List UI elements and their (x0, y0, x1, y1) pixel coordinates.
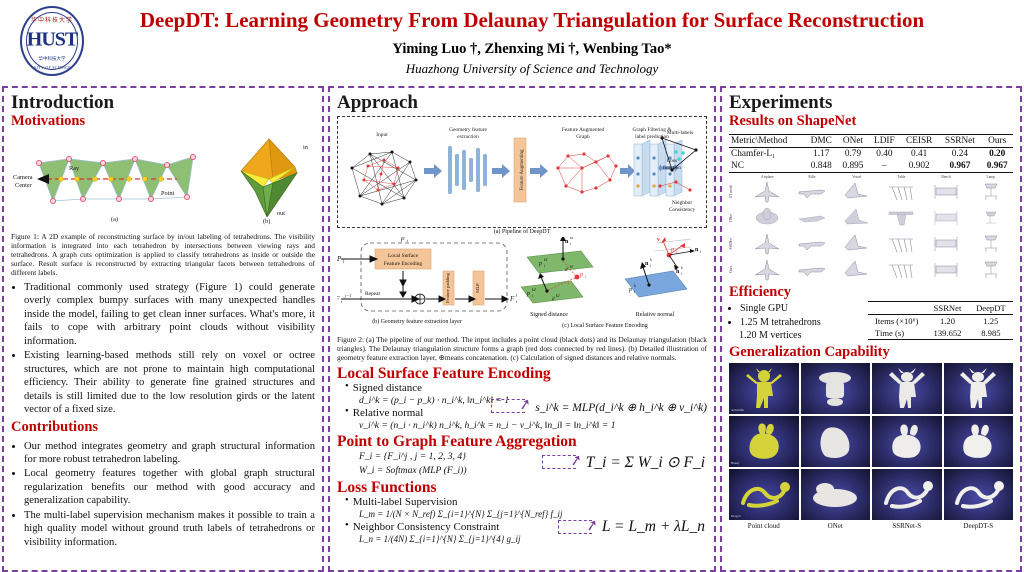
svg-text:Center: Center (15, 182, 33, 189)
svg-text:(b): (b) (263, 218, 270, 225)
generalization-grid: Armadillo Bunny (729, 363, 1013, 530)
mesh-thumb-vessel (834, 257, 879, 283)
figure-2-bc: Local Surface Feature Encoding Feature p… (337, 237, 707, 335)
svg-text:i: i (407, 238, 409, 243)
svg-text:i: i (585, 274, 586, 279)
subsection-lsfe: Local Surface Feature Encoding (337, 365, 707, 382)
svg-text:k: k (634, 283, 636, 288)
pipeline-stage-label-multilabels: Multi-labels (667, 130, 693, 136)
gen-col-label-0: Point cloud (729, 522, 799, 530)
cell: 0.40 (869, 147, 900, 160)
section-title-approach: Approach (337, 93, 707, 113)
page-title: DeepDT: Learning Geometry From Delaunay … (60, 8, 1004, 32)
svg-text:F: F (337, 295, 340, 303)
list-item: 1.25 M tetrahedrons (740, 317, 864, 330)
qualitative-row: GT mesh (729, 179, 1013, 205)
mesh-thumb-vessel (834, 205, 879, 231)
svg-text:Point: Point (161, 190, 175, 197)
gen-cell-onet-bunny (801, 416, 871, 467)
svg-text:k2: k2 (556, 294, 560, 298)
p2g-result-equation: T_i = Σ W_i ⊙ F_i (586, 453, 705, 472)
logo-bottom-chinese: 华中科技大学 (39, 56, 66, 62)
mesh-thumb-table (879, 179, 924, 205)
mesh-thumb-airplane (745, 257, 790, 283)
column-experiments: Experiments Results on ShapeNet Metric\M… (720, 86, 1022, 572)
gen-cell-pointcloud-bunny: Bunny (729, 416, 799, 467)
loss-item-label-0: Multi-label Supervision (353, 496, 458, 508)
row-label: Time (s) (868, 327, 926, 340)
cell: 0.902 (900, 160, 938, 173)
model-tag: Bunny (731, 461, 740, 465)
table-row: Chamfer-L₁ 1.17 0.79 0.40 0.41 0.24 0.20 (729, 147, 1013, 160)
column-approach: Approach (328, 86, 716, 572)
affiliation: Huazhong University of Science and Techn… (60, 61, 1004, 77)
svg-text:p: p (628, 287, 632, 293)
pipeline-stage-label-loss-1: Loss (667, 158, 677, 164)
pipeline-stage-label-neighbor-2: Consistency (669, 207, 696, 213)
logo-monogram: HUST (27, 28, 77, 51)
col-header-2: ONet (837, 134, 869, 147)
mesh-thumb-airplane (745, 231, 790, 257)
subsection-contributions: Contributions (11, 420, 315, 436)
svg-text:k: k (650, 257, 652, 262)
svg-text:p: p (579, 272, 583, 278)
table-row: Items (×10⁶) 1.20 1.25 (868, 314, 1013, 327)
svg-text:Ray: Ray (69, 165, 80, 172)
column-introduction: Introduction Motivations (2, 86, 324, 572)
svg-text:p: p (538, 261, 542, 267)
svg-text:Camera: Camera (13, 174, 33, 181)
poster-columns: Introduction Motivations (0, 86, 1024, 572)
gen-cell-deepdt-armadillo (944, 363, 1014, 414)
gen-cell-onet-dragon (801, 469, 871, 520)
table-header-row: Metric\Method DMC ONet LDIF CEISR SSRNet… (729, 134, 1013, 147)
subsection-generalization: Generalization Capability (729, 345, 1013, 361)
svg-text:Signed distance: Signed distance (530, 312, 568, 318)
loss-result-equation: L = L_m + λL_n (602, 518, 705, 536)
cell: 0.20 (981, 147, 1013, 160)
mesh-thumb-lamp (968, 205, 1013, 231)
logo-top-chinese: 华中科技大学 (31, 15, 73, 24)
mesh-thumb-bench (924, 231, 969, 257)
svg-text:p: p (526, 291, 530, 297)
mesh-thumb-table (879, 257, 924, 283)
subsection-p2g: Point to Graph Feature Aggregation (337, 433, 707, 450)
cell: 8.985 (969, 327, 1013, 340)
loss-item-label-1: Neighbor Consistency Constraint (353, 521, 500, 533)
cell: 0.848 (805, 160, 837, 173)
svg-text:v: v (657, 237, 660, 243)
shapenet-results-table: Metric\Method DMC ONet LDIF CEISR SSRNet… (729, 134, 1013, 173)
svg-text:k2: k2 (532, 287, 536, 292)
efficiency-bullets: Single GPU 1.25 M tetrahedrons 1.20 M ve… (740, 303, 864, 344)
mesh-thumb-lamp (968, 231, 1013, 257)
svg-text:i: i (516, 299, 518, 304)
list-item: Single GPU (740, 303, 864, 316)
cell: 0.24 (938, 147, 981, 160)
pipeline-stage-label-neighbor-1: Neighbor (672, 200, 693, 206)
subsection-efficiency: Efficiency (729, 285, 1013, 301)
gen-cell-deepdt-bunny (944, 416, 1014, 467)
generalization-row: Dragon (729, 469, 1013, 520)
figure-2-graphic: Local Surface Feature Encoding Feature p… (337, 237, 709, 333)
row-label: Items (×10⁶) (868, 314, 926, 327)
svg-text:i: i (676, 249, 677, 254)
qualitative-row: Ours (729, 257, 1013, 283)
row-label: GT mesh (729, 185, 745, 198)
figure-1-caption: Figure 1: A 2D example of reconstructing… (11, 232, 315, 277)
pipeline-stage-label-input: Input (376, 132, 388, 138)
cell: – (869, 160, 900, 173)
gen-cell-pointcloud-armadillo: Armadillo (729, 363, 799, 414)
dashed-arrow-icon: ➚ (491, 399, 535, 414)
cell: 0.967 (938, 160, 981, 173)
svg-text:Feature padding: Feature padding (445, 272, 450, 302)
list-item: Existing learning-based methods still re… (24, 349, 315, 416)
cell: 139.652 (926, 327, 969, 340)
svg-text:Local Surface: Local Surface (388, 252, 419, 259)
svg-text:i: i (662, 239, 663, 244)
poster-root: 华中科技大学 HUST 华中科技大学 HUAZHONG UNIVERSITY O… (0, 0, 1024, 572)
lsfe-formula-1: v_i^k = (n_i · n_i^k) n_i^k, h_i^k = n_i… (359, 420, 707, 431)
svg-text:i: i (634, 289, 635, 294)
dashed-arrow-icon: ➚ (542, 455, 586, 470)
svg-text:P: P (337, 255, 342, 263)
col-header-1: SSRNet (926, 301, 969, 314)
cell: 0.967 (981, 160, 1013, 173)
svg-text:Repeat: Repeat (365, 291, 380, 297)
pipeline-stage-label-aug-1: Feature Augmented (562, 127, 605, 133)
subsection-loss: Loss Functions (337, 479, 707, 496)
mesh-thumb-bench (924, 257, 969, 283)
col-header-4: CEISR (900, 134, 938, 147)
pipeline-caption-a: (a) Pipeline of DeepDT (337, 229, 707, 235)
cell: 1.17 (805, 147, 837, 160)
mesh-thumb-vessel (834, 179, 879, 205)
motivations-list: Traditional commonly used strategy (Figu… (24, 281, 315, 417)
list-item: The multi-label supervision mechanism ma… (24, 509, 315, 549)
col-header-2: DeepDT (969, 301, 1013, 314)
gen-cell-pointcloud-dragon: Dragon (729, 469, 799, 520)
mesh-thumb-table (879, 231, 924, 257)
subsection-motivations: Motivations (11, 114, 315, 130)
qualitative-row: ONet (729, 205, 1013, 231)
mesh-thumb-rifle (790, 257, 835, 283)
svg-text:Relative normal: Relative normal (636, 312, 675, 318)
logo-bottom-english: HUAZHONG UNIVERSITY OF SCIENCE AND TECHN… (20, 65, 84, 70)
mesh-thumb-bench (924, 179, 969, 205)
figure-1: Camera Center Ray Point (a) (11, 133, 315, 229)
efficiency-table: SSRNet DeepDT Items (×10⁶) 1.20 1.25 Tim… (868, 301, 1013, 340)
svg-text:(b) Geometry feature extractio: (b) Geometry feature extraction layer (372, 318, 462, 325)
row-label: ONet (729, 214, 745, 222)
svg-text:MLP: MLP (475, 283, 480, 293)
svg-text:i: i (341, 299, 343, 304)
svg-text:k: k (681, 265, 683, 270)
mesh-thumb-rifle (790, 179, 835, 205)
list-item: 1.20 M vertices (739, 330, 864, 343)
svg-text:k1: k1 (570, 237, 574, 240)
mesh-thumb-airplane (745, 179, 790, 205)
svg-text:i: i (544, 263, 545, 268)
pipeline-stage-label-loss-2: function (663, 164, 681, 171)
mesh-thumb-lamp (968, 257, 1013, 283)
figure-1-graphic: Camera Center Ray Point (a) (11, 133, 317, 225)
list-item: Traditional commonly used strategy (Figu… (24, 281, 315, 348)
gen-col-label-2: SSRNet-S (872, 522, 942, 530)
section-title-introduction: Introduction (11, 93, 315, 113)
svg-text:n: n (565, 239, 569, 245)
svg-text:+: + (567, 282, 570, 287)
list-item: Local geometry features together with gl… (24, 467, 315, 507)
row-label: Ours (729, 266, 745, 273)
mesh-thumb-vessel (834, 231, 879, 257)
lsfe-result-equation: s_i^k = MLP(d_i^k ⊕ h_i^k ⊕ v_i^k) (535, 400, 707, 414)
mesh-thumb-bench (924, 205, 969, 231)
table-row: NC 0.848 0.895 – 0.902 0.967 0.967 (729, 160, 1013, 173)
generalization-row: Armadillo (729, 363, 1013, 414)
shapenet-qualitative-grid: Airplane Rifle Vessel Table Bench Lamp G… (729, 175, 1013, 283)
lsfe-item-label-1: Relative normal (353, 407, 424, 419)
svg-text:p: p (400, 237, 405, 242)
cell: 0.895 (837, 160, 869, 173)
author-list: Yiming Luo †, Zhenxing Mi †, Wenbing Tao… (60, 41, 1004, 58)
row-label: SSRNet (729, 238, 745, 250)
svg-text:F: F (509, 295, 515, 303)
list-item: Our method integrates geometry and graph… (24, 440, 315, 467)
svg-text:Feature Encoding: Feature Encoding (384, 261, 422, 267)
pipeline-stage-label-feature-augmenting: Feature Augmenting (520, 149, 525, 190)
gen-col-label-3: DeepDT-S (944, 522, 1014, 530)
hust-logo-icon: 华中科技大学 HUST 华中科技大学 HUAZHONG UNIVERSITY O… (20, 6, 84, 76)
svg-text:i: i (343, 260, 345, 265)
col-header-0 (868, 301, 926, 314)
figure-2-caption: Figure 2: (a) The pipeline of our method… (337, 335, 707, 362)
cell: 0.79 (837, 147, 869, 160)
svg-text:(c) Local Surface Feature Enco: (c) Local Surface Feature Encoding (562, 322, 648, 329)
pipeline-stage-label-aug-2: Graph (576, 134, 590, 140)
model-tag: Armadillo (731, 408, 744, 412)
svg-text:k1: k1 (544, 257, 548, 262)
mesh-thumb-lamp (968, 179, 1013, 205)
model-tag: Dragon (731, 514, 741, 518)
pipeline-stage-label-geometry-1: Geometry feature (449, 126, 487, 133)
svg-text:n: n (645, 261, 649, 267)
pipeline-stage-label-filter-2: label prediction (635, 134, 669, 140)
svg-text:in: in (303, 144, 309, 151)
gen-col-label-1: ONet (801, 522, 871, 530)
svg-text:i: i (532, 293, 533, 298)
contributions-list: Our method integrates geometry and graph… (24, 440, 315, 550)
col-header-1: DMC (805, 134, 837, 147)
svg-text:k: k (662, 237, 664, 238)
generalization-column-labels: Point cloud ONet SSRNet-S DeepDT-S (729, 522, 1013, 530)
svg-text:j−1: j−1 (344, 293, 352, 298)
mesh-thumb-table (879, 205, 924, 231)
mesh-thumb-rifle (790, 231, 835, 257)
svg-text:i: i (650, 263, 651, 268)
svg-text:p: p (670, 247, 674, 253)
col-header-5: SSRNet (938, 134, 981, 147)
cell: 0.41 (900, 147, 938, 160)
col-header-3: LDIF (869, 134, 900, 147)
gen-cell-ssrnet-armadillo (872, 363, 942, 414)
pipeline-stage-label-geometry-2: extraction (457, 134, 479, 140)
svg-text:i: i (570, 241, 571, 246)
svg-text:h: h (676, 269, 680, 275)
svg-text:i: i (681, 271, 682, 276)
row-label: NC (729, 160, 805, 173)
dashed-arrow-icon: ➚ (558, 520, 602, 535)
lsfe-item-label-0: Signed distance (353, 382, 422, 394)
svg-text:(a): (a) (111, 216, 118, 223)
poster-header: 华中科技大学 HUST 华中科技大学 HUAZHONG UNIVERSITY O… (0, 0, 1024, 84)
gen-cell-ssrnet-dragon (872, 469, 942, 520)
gen-cell-onet-armadillo (801, 363, 871, 414)
mesh-thumb-airplane (745, 205, 790, 231)
row-label: Chamfer-L₁ (729, 147, 805, 160)
section-title-experiments: Experiments (729, 93, 1013, 113)
subsection-shapenet: Results on ShapeNet (729, 114, 1013, 130)
pipeline-graphic: Feature Augmenting (340, 120, 710, 220)
title-block: DeepDT: Learning Geometry From Delaunay … (0, 0, 1024, 77)
table-row: Time (s) 139.652 8.985 (868, 327, 1013, 340)
mesh-thumb-rifle (790, 205, 835, 231)
svg-text:−: − (573, 268, 576, 273)
university-logo: 华中科技大学 HUST 华中科技大学 HUAZHONG UNIVERSITY O… (14, 3, 90, 81)
svg-text:i: i (700, 249, 701, 254)
cell: 1.25 (969, 314, 1013, 327)
svg-text:n: n (695, 247, 699, 253)
gen-cell-deepdt-dragon (944, 469, 1014, 520)
table-header-row: SSRNet DeepDT (868, 301, 1013, 314)
cell: 1.20 (926, 314, 969, 327)
pipeline-figure: Feature Augmenting (337, 116, 707, 228)
generalization-row: Bunny (729, 416, 1013, 467)
col-header-0: Metric\Method (729, 134, 805, 147)
svg-text:j: j (515, 292, 518, 297)
svg-text:out: out (277, 210, 285, 217)
qualitative-row: SSRNet (729, 231, 1013, 257)
col-header-6: Ours (981, 134, 1013, 147)
gen-cell-ssrnet-bunny (872, 416, 942, 467)
